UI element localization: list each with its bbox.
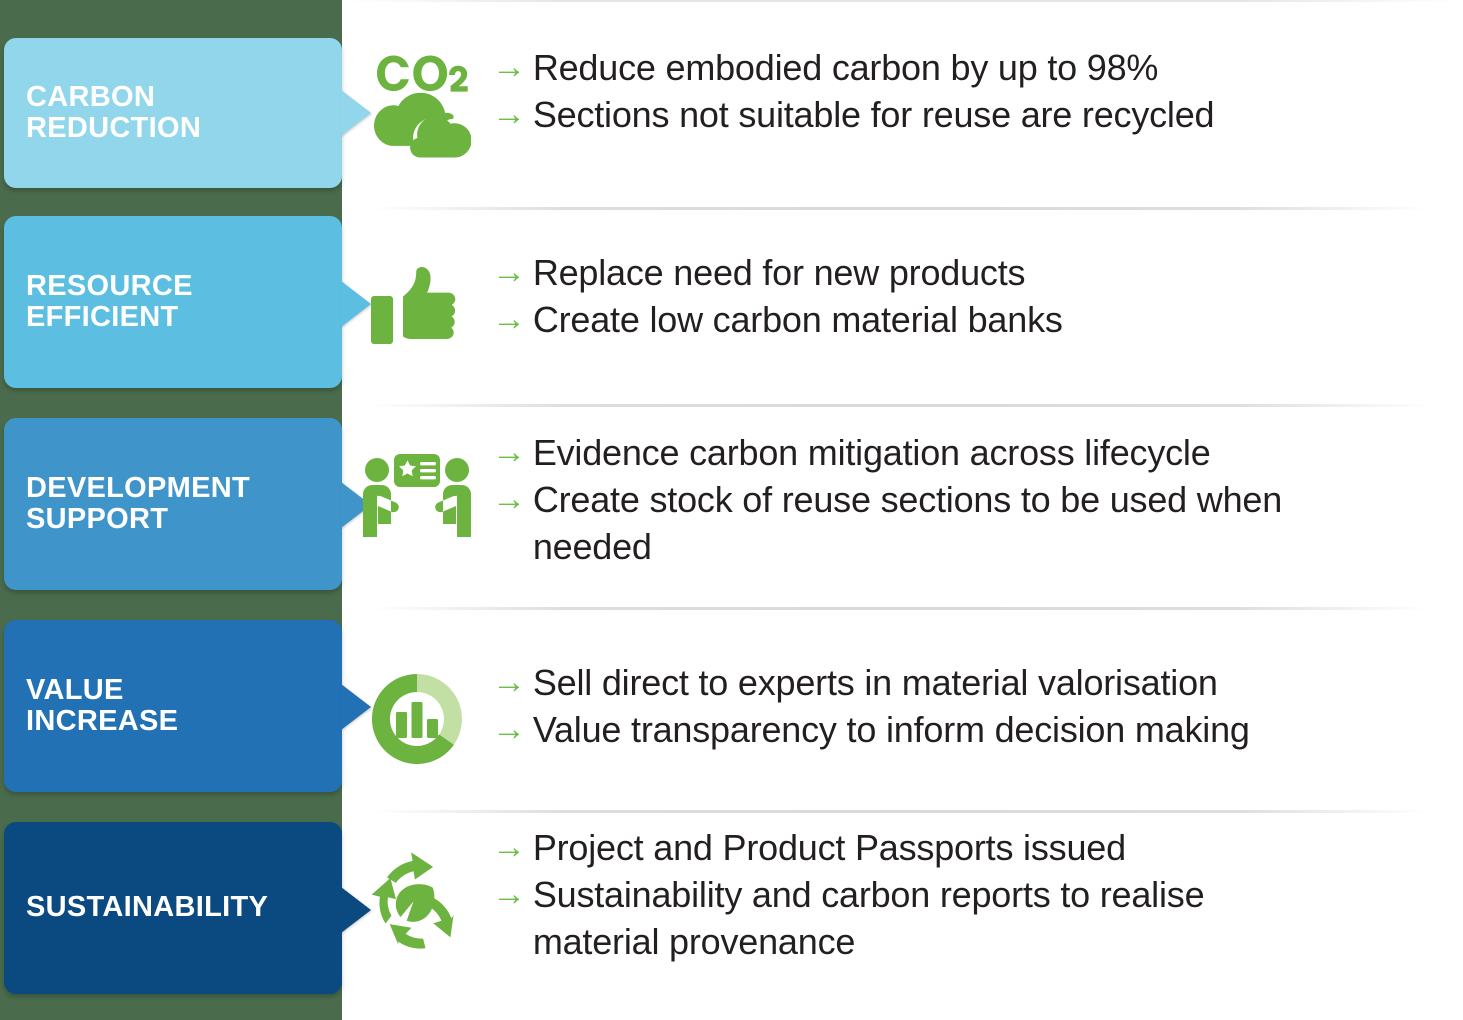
arrow-icon: → xyxy=(492,430,526,475)
bullet-item: → Reduce embodied carbon by up to 98% xyxy=(492,45,1443,92)
bullet-text: Create stock of reuse sections to be use… xyxy=(533,477,1292,571)
category-label-development-support: DEVELOPMENT SUPPORT xyxy=(4,473,250,536)
arrow-icon: → xyxy=(492,872,526,917)
icon-slot-development-support xyxy=(342,430,492,552)
arrow-icon: → xyxy=(492,707,526,752)
bullet-item: → Evidence carbon mitigation across life… xyxy=(492,430,1443,477)
bullet-text: Sell direct to experts in material valor… xyxy=(533,660,1443,707)
row-divider-1 xyxy=(370,207,1430,210)
row-divider-4 xyxy=(370,810,1430,813)
icon-slot-value-increase xyxy=(342,660,492,770)
category-label-sustainability: SUSTAINABILITY xyxy=(4,892,268,923)
bullet-text: Project and Product Passports issued xyxy=(533,825,1443,872)
bullet-list-sustainability: → Project and Product Passports issued →… xyxy=(492,825,1463,965)
bullet-item: → Sell direct to experts in material val… xyxy=(492,660,1443,707)
bullet-item: → Project and Product Passports issued xyxy=(492,825,1443,872)
content-row-sustainability: → Project and Product Passports issued →… xyxy=(342,825,1463,965)
icon-slot-resource-efficient xyxy=(342,250,492,358)
bullet-text: Replace need for new products xyxy=(533,250,1443,297)
category-box-carbon-reduction[interactable]: CARBON REDUCTION xyxy=(4,38,342,188)
bullet-item: → Sections not suitable for reuse are re… xyxy=(492,92,1443,139)
infographic-canvas: CARBON REDUCTION RESOURCE EFFICIENT DEVE… xyxy=(0,0,1463,1020)
bullet-text: Sections not suitable for reuse are recy… xyxy=(533,92,1443,139)
bullet-item: → Create low carbon material banks xyxy=(492,297,1443,344)
arrow-icon: → xyxy=(492,297,526,342)
arrow-icon: → xyxy=(492,45,526,90)
icon-slot-sustainability xyxy=(342,825,492,955)
arrow-icon: → xyxy=(492,477,526,522)
bullet-list-value-increase: → Sell direct to experts in material val… xyxy=(492,660,1463,754)
bullet-item: → Create stock of reuse sections to be u… xyxy=(492,477,1292,571)
people-certificate-icon xyxy=(357,452,477,552)
row-divider-2 xyxy=(370,404,1430,407)
content-row-development-support: → Evidence carbon mitigation across life… xyxy=(342,430,1463,570)
category-label-carbon-reduction: CARBON REDUCTION xyxy=(4,82,201,145)
bullet-text: Value transparency to inform decision ma… xyxy=(533,707,1443,754)
thumbs-up-icon xyxy=(367,258,467,358)
arrow-icon: → xyxy=(492,825,526,870)
arrow-icon: → xyxy=(492,250,526,295)
co2-cloud-icon xyxy=(363,49,471,167)
bullet-item: → Replace need for new products xyxy=(492,250,1443,297)
category-label-value-increase: VALUE INCREASE xyxy=(4,675,178,738)
content-row-resource-efficient: → Replace need for new products → Create… xyxy=(342,250,1463,358)
arrow-icon: → xyxy=(492,660,526,705)
bullet-text: Create low carbon material banks xyxy=(533,297,1443,344)
bullet-text: Reduce embodied carbon by up to 98% xyxy=(533,45,1443,92)
arrow-icon: → xyxy=(492,92,526,137)
category-box-development-support[interactable]: DEVELOPMENT SUPPORT xyxy=(4,418,342,590)
category-box-sustainability[interactable]: SUSTAINABILITY xyxy=(4,822,342,994)
category-box-resource-efficient[interactable]: RESOURCE EFFICIENT xyxy=(4,216,342,388)
row-divider-3 xyxy=(370,607,1430,610)
category-label-resource-efficient: RESOURCE EFFICIENT xyxy=(4,271,193,334)
bullet-item: → Sustainability and carbon reports to r… xyxy=(492,872,1332,966)
bullet-list-resource-efficient: → Replace need for new products → Create… xyxy=(492,250,1463,344)
category-box-value-increase[interactable]: VALUE INCREASE xyxy=(4,620,342,792)
donut-bar-chart-icon xyxy=(366,668,468,770)
content-row-carbon-reduction: → Reduce embodied carbon by up to 98% → … xyxy=(342,45,1463,167)
icon-slot-carbon-reduction xyxy=(342,45,492,167)
content-row-value-increase: → Sell direct to experts in material val… xyxy=(342,660,1463,770)
recycle-leaf-icon xyxy=(363,847,471,955)
panel-top-divider xyxy=(342,0,1463,2)
bullet-list-development-support: → Evidence carbon mitigation across life… xyxy=(492,430,1463,570)
bullet-text: Evidence carbon mitigation across lifecy… xyxy=(533,430,1443,477)
bullet-item: → Value transparency to inform decision … xyxy=(492,707,1443,754)
bullet-list-carbon-reduction: → Reduce embodied carbon by up to 98% → … xyxy=(492,45,1463,139)
bullet-text: Sustainability and carbon reports to rea… xyxy=(533,872,1332,966)
